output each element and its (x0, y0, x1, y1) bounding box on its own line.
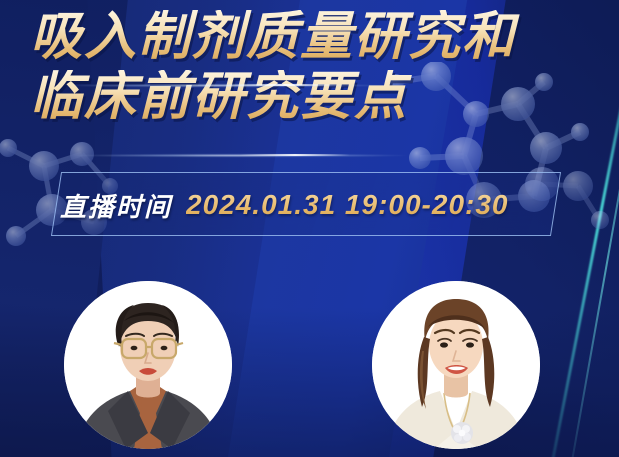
live-time-banner: 直播时间 2024.01.31 19:00-20:30 (60, 176, 570, 234)
title-block: 吸入制剂质量研究和 临床前研究要点 (0, 10, 619, 124)
speaker-avatar-left (64, 281, 232, 449)
light-streak-core-1 (230, 84, 340, 86)
live-time-value: 2024.01.31 19:00-20:30 (186, 189, 508, 221)
livestream-poster: 吸入制剂质量研究和 临床前研究要点 直播时间 2024.01.31 19:00-… (0, 0, 619, 457)
light-streak-core-2 (240, 154, 350, 156)
avatar-right-illustration (372, 281, 540, 449)
title-line-1: 吸入制剂质量研究和 (30, 10, 619, 64)
light-streak-1 (60, 84, 390, 87)
speaker-avatar-right (372, 281, 540, 449)
title-line-2: 临床前研究要点 (30, 70, 619, 124)
avatar-left-illustration (64, 281, 232, 449)
live-time-label: 直播时间 (60, 187, 172, 224)
